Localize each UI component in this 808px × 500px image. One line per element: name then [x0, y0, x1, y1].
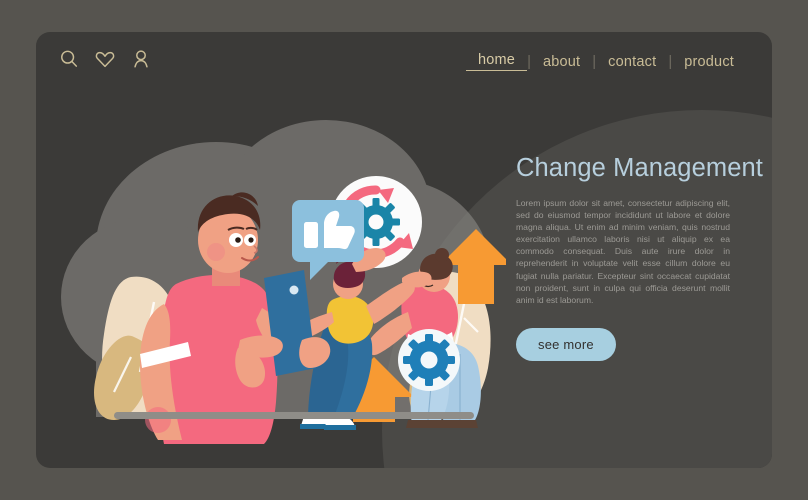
search-icon[interactable] — [58, 48, 80, 70]
header-icon-group — [58, 48, 152, 70]
gear-badge-icon — [398, 329, 460, 391]
user-icon[interactable] — [130, 48, 152, 70]
hero-paragraph: Lorem ipsum dolor sit amet, consectetur … — [516, 197, 730, 306]
nav-link-about[interactable]: about — [531, 54, 592, 70]
change-management-illustration — [36, 72, 506, 468]
heart-icon[interactable] — [94, 48, 116, 70]
see-more-button[interactable]: see more — [516, 328, 616, 361]
hero-content: Change Management Lorem ipsum dolor sit … — [516, 154, 736, 361]
page-title: Change Management — [516, 154, 736, 183]
hero-card: home | about | contact | product Change … — [36, 32, 772, 468]
main-navigation[interactable]: home | about | contact | product — [466, 52, 746, 71]
nav-link-home[interactable]: home — [466, 52, 527, 71]
nav-link-contact[interactable]: contact — [596, 54, 668, 70]
top-bar: home | about | contact | product — [36, 32, 772, 98]
page-root: home | about | contact | product Change … — [0, 0, 808, 500]
nav-link-product[interactable]: product — [672, 54, 746, 70]
ground-bar — [114, 412, 474, 419]
